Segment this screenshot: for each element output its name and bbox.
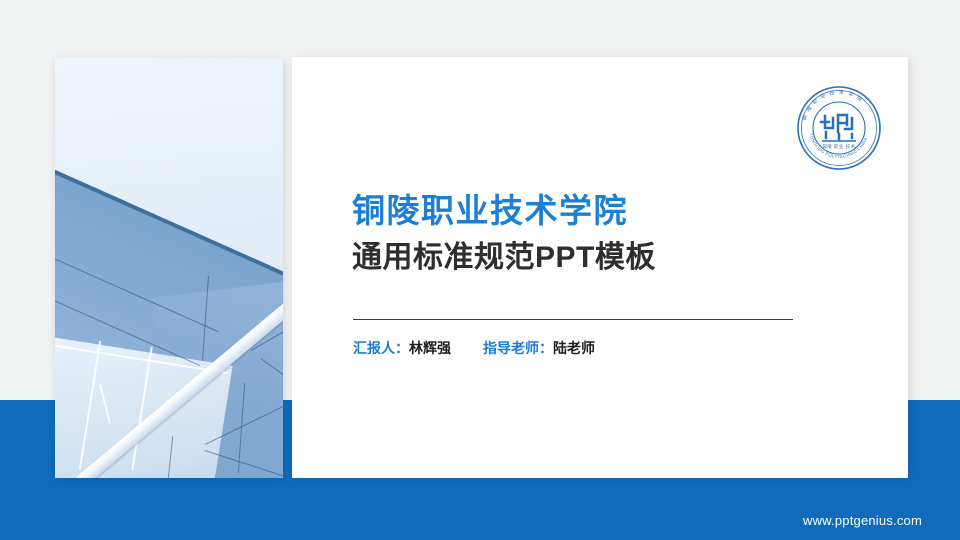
page-title: 铜陵职业技术学院 [352,190,798,232]
cover-photo [55,58,283,478]
slide-canvas: 铜 陵 职 业 技 术 学 院 TONGLING POLYTECHNIC CHI… [0,0,960,540]
site-watermark: www.pptgenius.com [803,513,922,528]
advisor-label: 指导老师： [483,340,553,356]
byline: 汇报人：林辉强指导老师：陆老师 [353,338,595,358]
title-group: 铜陵职业技术学院 通用标准规范PPT模板 [352,190,798,277]
presenter-name: 林辉强 [409,340,451,356]
presenter-label: 汇报人： [353,340,409,356]
advisor-name: 陆老师 [553,340,595,356]
university-seal-logo: 铜 陵 职 业 技 术 学 院 TONGLING POLYTECHNIC CHI… [795,84,883,172]
svg-text:铜陵 职业 技术: 铜陵 职业 技术 [823,143,856,150]
page-subtitle: 通用标准规范PPT模板 [352,238,798,277]
title-divider [353,319,793,320]
svg-text:铜 陵 职 业 技 术 学 院: 铜 陵 职 业 技 术 学 院 [801,89,865,121]
